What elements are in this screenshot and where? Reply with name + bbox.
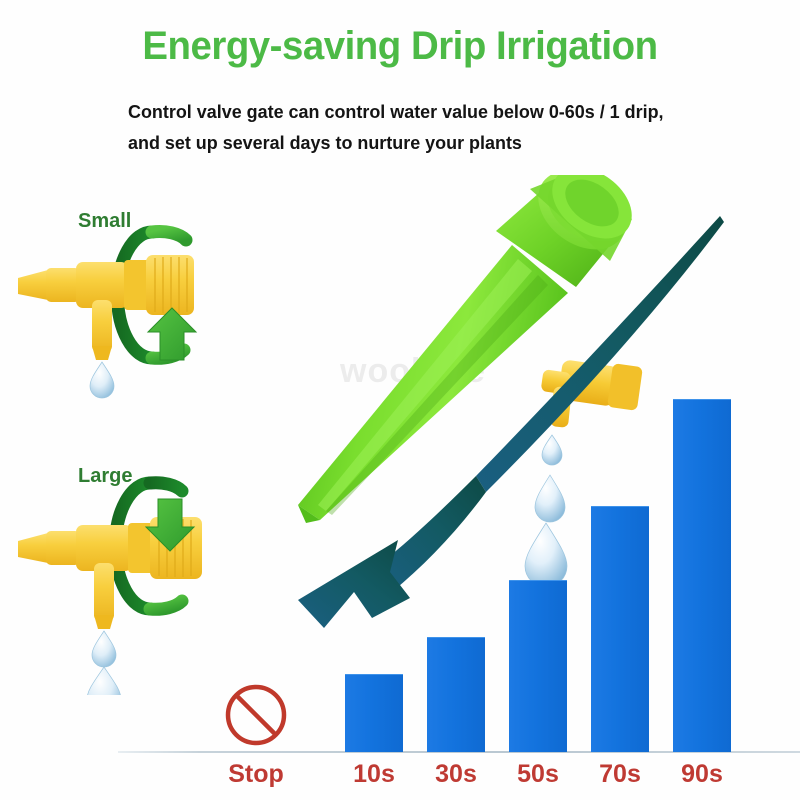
x-axis-label-90s: 90s [652,760,752,789]
bar-10s [345,674,403,752]
rotation-ring-top-arc [150,483,182,491]
prohibition-slash [237,696,275,734]
arrow-head-icon [298,540,410,628]
water-drop-icon [87,667,121,695]
bar-30s [427,637,485,752]
subtitle-line-2: and set up several days to nurture your … [128,127,710,158]
valve-demo-small-label: Small [78,210,131,233]
valve-barrel-a [46,268,80,302]
infographic-canvas: Energy-saving Drip Irrigation Control va… [0,0,800,800]
page-subtitle: Control valve gate can control water val… [128,96,728,158]
valve-demo-large-label: Large [78,465,132,488]
prohibition-sign-icon [223,682,289,748]
x-axis-label-Stop: Stop [206,760,306,789]
water-drop-icon [92,631,116,667]
valve-inlet-tip [18,533,48,563]
valve-large-illustration [0,455,260,695]
valve-drip-stem [92,300,112,352]
valve-nozzle [94,615,114,629]
bar-90s [673,399,731,752]
valve-demo-large: Large [0,455,260,695]
page-title: Energy-saving Drip Irrigation [16,24,784,69]
water-drop-icon [90,362,114,398]
bar-70s [591,506,649,752]
valve-inlet-tip [18,270,48,300]
valve-barrel-a [46,531,80,565]
valve-drip-stem [94,563,114,621]
rotation-ring-bottom-arc [150,601,182,609]
arrow-shaft-lower [380,476,486,592]
subtitle-line-1: Control valve gate can control water val… [128,96,710,127]
trend-arrow [280,200,740,630]
valve-demo-small: Small [0,200,260,410]
valve-nozzle [92,346,112,360]
rotation-ring-top-arc [152,231,186,240]
bar-50s [509,580,567,752]
